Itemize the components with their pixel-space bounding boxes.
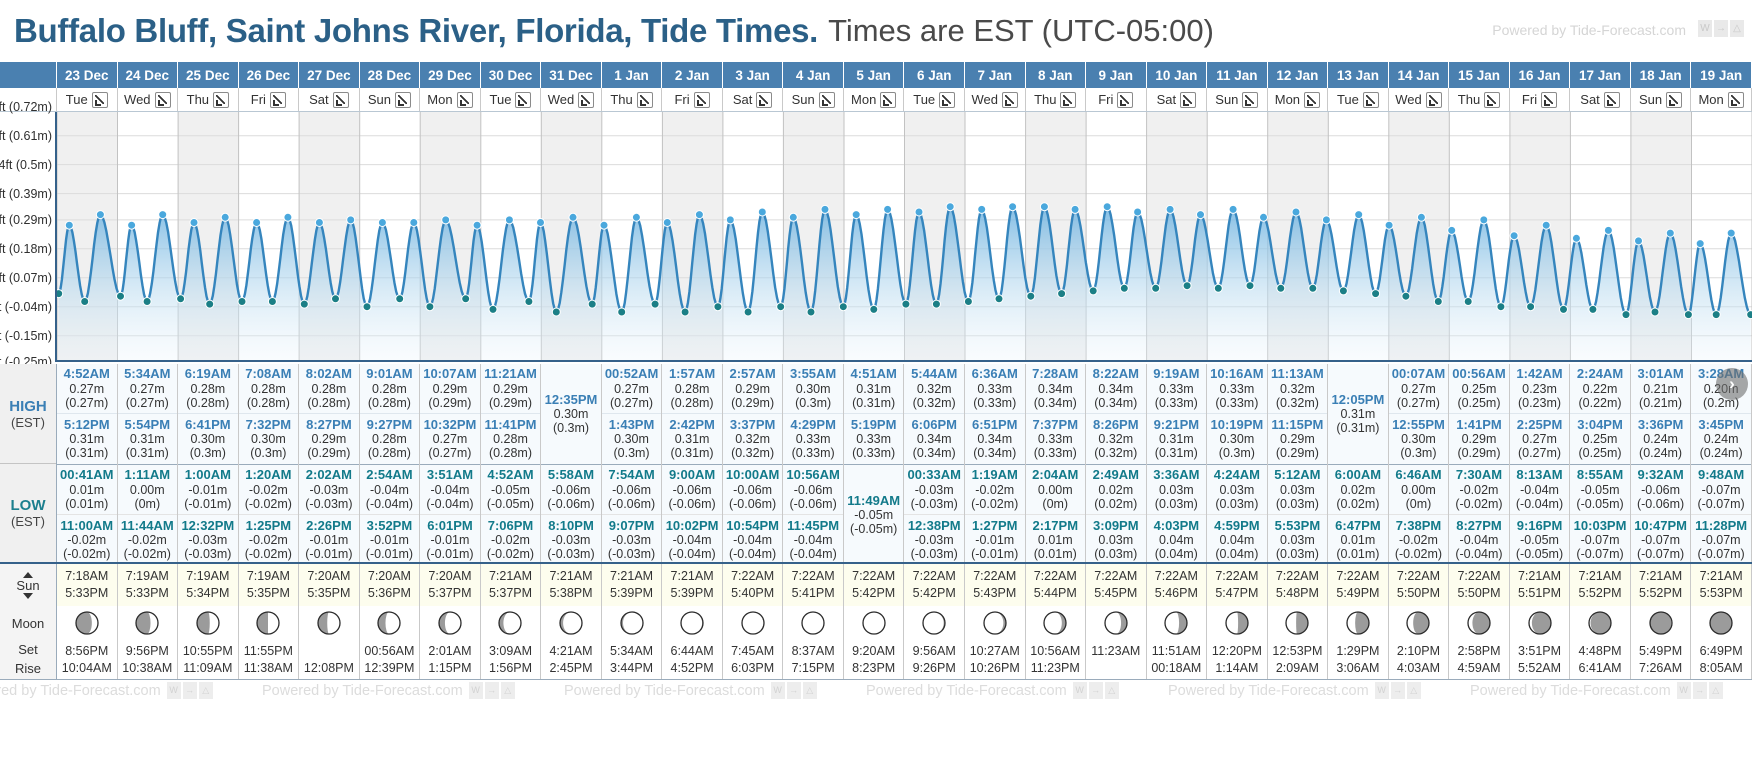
moonset-time: 3:09AM [489, 643, 532, 660]
tide-height-metric: (-0.01m) [971, 547, 1018, 561]
tide-column-23-dec: 4:52AM0.27m(0.27m)5:12PM0.31m(0.31m)00:4… [57, 364, 118, 565]
tide-height: 0.28m [493, 432, 528, 446]
tide-time: 8:27PM [1456, 519, 1502, 534]
expand-icon[interactable] [578, 92, 594, 108]
weekday-header-tue[interactable]: Tue [481, 88, 542, 111]
tide-height: -0.06m [1641, 483, 1680, 497]
tide-height-metric: (0.31m) [126, 446, 169, 460]
low-tide-group: 1:19AM-0.02m(-0.02m)1:27PM-0.01m(-0.01m) [965, 465, 1025, 565]
tide-height: -0.06m [612, 483, 651, 497]
date-header-10-jan[interactable]: 10 Jan [1147, 62, 1208, 88]
tide-height: 0.23m [1522, 382, 1557, 396]
moonrise-label-text: Rise [15, 660, 41, 679]
sunset-time: 5:52PM [1579, 585, 1622, 602]
date-header-19-jan[interactable]: 19 Jan [1691, 62, 1752, 88]
date-header-30-dec[interactable]: 30 Dec [481, 62, 542, 88]
weekday-header-mon[interactable]: Mon [1268, 88, 1329, 111]
high-tide-cell: 5:12PM0.31m(0.31m) [57, 414, 117, 464]
high-tide-cell: 7:08AM0.28m(0.28m) [239, 364, 299, 414]
sun-cell: 7:21AM5:52PM [1570, 564, 1631, 606]
tide-time: 7:08AM [245, 367, 291, 382]
weekday-header-sat[interactable]: Sat [1147, 88, 1208, 111]
tide-column-16-jan: 1:42AM0.23m(0.23m)2:25PM0.27m(0.27m)8:13… [1510, 364, 1571, 565]
expand-icon[interactable] [1304, 92, 1320, 108]
moonset-time: 1:29PM [1336, 643, 1379, 660]
date-header-9-jan[interactable]: 9 Jan [1086, 62, 1147, 88]
sunset-time: 5:51PM [1518, 585, 1561, 602]
high-tide-group: 3:01AM0.21m(0.21m)3:36PM0.24m(0.24m) [1631, 364, 1691, 465]
weekday-header-thu[interactable]: Thu [1026, 88, 1087, 111]
tide-height-metric: (0.3m) [190, 446, 226, 460]
date-header-3-jan[interactable]: 3 Jan [723, 62, 784, 88]
tide-height-metric: (-0.06m) [729, 497, 776, 511]
moonset-time: 4:48PM [1579, 643, 1622, 660]
date-header-14-jan[interactable]: 14 Jan [1389, 62, 1450, 88]
expand-icon[interactable] [333, 92, 349, 108]
low-tide-cell: 11:49AM-0.05m(-0.05m) [844, 465, 904, 565]
weekday-header-mon[interactable]: Mon [844, 88, 905, 111]
moon-set-rise-cell: 11:23AM [1086, 640, 1147, 679]
moonrise-time: 00:18AM [1151, 660, 1201, 677]
sunset-time: 5:53PM [1700, 585, 1743, 602]
footer-watermarks: Powered by Tide-Forecast.comW→△Powered b… [0, 680, 1752, 780]
moonrise-time: 2:45PM [549, 660, 592, 677]
tide-height-metric: (-0.02m) [971, 497, 1018, 511]
moonset-time: 2:10PM [1397, 643, 1440, 660]
tide-time: 11:44AM [121, 519, 174, 534]
tide-time: 1:42AM [1516, 367, 1562, 382]
tide-height-metric: (-0.04m) [1516, 497, 1563, 511]
high-tide-group: 5:34AM0.27m(0.27m)5:54PM0.31m(0.31m) [118, 364, 178, 465]
tide-height-metric: (0.21m) [1639, 396, 1682, 410]
low-tide-cell: 8:27PM-0.04m(-0.04m) [1449, 515, 1509, 565]
tide-height-metric: (-0.02m) [487, 547, 534, 561]
high-tide-group: 1:42AM0.23m(0.23m)2:25PM0.27m(0.27m) [1510, 364, 1570, 465]
low-tide-cell: 10:02PM-0.04m(-0.04m) [662, 515, 722, 565]
watermark-icons: W→△ [167, 682, 213, 699]
high-tide-cell: 10:19PM0.30m(0.3m) [1207, 414, 1267, 464]
sunrise-time: 7:20AM [428, 568, 471, 585]
moon-phase-icon [965, 606, 1026, 640]
low-tide-group: 7:54AM-0.06m(-0.06m)9:07PM-0.03m(-0.03m) [602, 465, 662, 565]
moonset-time: 9:20AM [852, 643, 895, 660]
moonrise-time: 5:52AM [1518, 660, 1561, 677]
weekday-label: Thu [1458, 92, 1480, 107]
date-header-2-jan[interactable]: 2 Jan [662, 62, 723, 88]
high-tide-group: 12:35PM0.30m(0.3m) [541, 364, 601, 465]
tide-height: 0.27m [130, 382, 165, 396]
header-credit-icons: W → △ [1698, 20, 1744, 37]
tide-height-metric: (0m) [134, 497, 160, 511]
tide-column-5-jan: 4:51AM0.31m(0.31m)5:19PM0.33m(0.33m)11:4… [844, 364, 905, 565]
tide-height: 0.21m [1643, 382, 1678, 396]
tide-height: 0.27m [433, 432, 468, 446]
date-header-29-dec[interactable]: 29 Dec [420, 62, 481, 88]
date-header-17-jan[interactable]: 17 Jan [1570, 62, 1631, 88]
weekday-header-fri[interactable]: Fri [1510, 88, 1571, 111]
expand-icon[interactable] [457, 92, 473, 108]
tide-height-metric: (0.27m) [428, 446, 471, 460]
tide-height-metric: (0.04m) [1155, 547, 1198, 561]
high-tide-cell: 8:02AM0.28m(0.28m) [299, 364, 359, 414]
moon-set-rise-cell: 3:09AM1:56PM [481, 640, 542, 679]
sunset-time: 5:33PM [126, 585, 169, 602]
tide-height-metric: (0.3m) [1219, 446, 1255, 460]
tide-time: 00:56AM [1452, 367, 1505, 382]
low-tide-group: 1:00AM-0.01m(-0.01m)12:32PM-0.03m(-0.03m… [178, 465, 238, 565]
expand-icon[interactable] [1060, 92, 1076, 108]
low-tide-group: 10:00AM-0.06m(-0.06m)10:54PM-0.04m(-0.04… [723, 465, 783, 565]
expand-icon[interactable] [1541, 92, 1557, 108]
tide-time: 10:54PM [726, 519, 779, 534]
expand-icon[interactable] [880, 92, 896, 108]
date-header-31-dec[interactable]: 31 Dec [541, 62, 602, 88]
low-tide-cell: 1:25PM-0.02m(-0.02m) [239, 515, 299, 565]
moonrise-time: 3:06AM [1336, 660, 1379, 677]
weekday-label: Sun [1215, 92, 1238, 107]
moon-set-rise-cell: 10:56AM11:23PM [1026, 640, 1087, 679]
expand-icon[interactable] [515, 92, 531, 108]
tide-height-metric: (0.32m) [731, 446, 774, 460]
date-header-23-dec[interactable]: 23 Dec [57, 62, 118, 88]
tide-height-metric: (0.34m) [973, 446, 1016, 460]
high-tide-group: 7:28AM0.34m(0.34m)7:37PM0.33m(0.33m) [1026, 364, 1086, 465]
expand-icon[interactable] [637, 92, 653, 108]
high-tide-cell: 2:24AM0.22m(0.22m) [1570, 364, 1630, 414]
tide-height: 0.34m [977, 432, 1012, 446]
high-tide-cell: 8:26PM0.32m(0.32m) [1086, 414, 1146, 464]
tide-height-metric: (0.34m) [1034, 396, 1077, 410]
moonset-time [327, 643, 330, 660]
wave-icon: △ [199, 682, 213, 699]
high-tide-cell: 2:25PM0.27m(0.27m) [1510, 414, 1570, 464]
weekday-header-sat[interactable]: Sat [1570, 88, 1631, 111]
moonset-time: 11:23AM [1091, 643, 1140, 660]
high-label-tz: (EST) [11, 415, 45, 430]
weekday-header-fri[interactable]: Fri [1086, 88, 1147, 111]
tide-time: 12:32PM [181, 519, 234, 534]
expand-icon[interactable] [213, 92, 229, 108]
sun-cell: 7:19AM5:34PM [178, 564, 239, 606]
tide-height-metric: (0.03m) [1276, 497, 1319, 511]
tide-height: -0.06m [673, 483, 712, 497]
sun-row-label: Sun [0, 564, 57, 606]
low-tide-cell: 10:47PM-0.07m(-0.07m) [1631, 515, 1691, 565]
tide-height-metric: (0.25m) [1579, 446, 1622, 460]
chart-plot-area [57, 112, 1752, 362]
date-header-15-jan[interactable]: 15 Jan [1449, 62, 1510, 88]
high-tide-cell: 3:36PM0.24m(0.24m) [1631, 414, 1691, 464]
tide-height-metric: (-0.01m) [184, 497, 231, 511]
tide-height: -0.01m [370, 533, 409, 547]
moon-set-rise-cell: 6:44AM4:52PM [662, 640, 723, 679]
expand-icon[interactable] [819, 92, 835, 108]
expand-icon[interactable] [756, 92, 772, 108]
weekday-label: Thu [187, 92, 209, 107]
moonset-time: 3:51PM [1518, 643, 1561, 660]
header-credit: Powered by Tide-Forecast.com [1492, 22, 1686, 38]
expand-icon[interactable] [1117, 92, 1133, 108]
low-tide-group: 2:04AM0.00m(0m)2:17PM0.01m(0.01m) [1026, 465, 1086, 565]
sunrise-time: 7:22AM [1094, 568, 1137, 585]
tide-time: 2:57AM [729, 367, 775, 382]
moon-phase-icon [783, 606, 844, 640]
expand-icon[interactable] [270, 92, 286, 108]
tide-column-11-jan: 10:16AM0.33m(0.33m)10:19PM0.30m(0.3m)4:2… [1207, 364, 1268, 565]
date-header-5-jan[interactable]: 5 Jan [844, 62, 905, 88]
date-header-16-jan[interactable]: 16 Jan [1510, 62, 1571, 88]
weekday-header-thu[interactable]: Thu [178, 88, 239, 111]
weekday-header-wed[interactable]: Wed [118, 88, 179, 111]
tide-height-metric: (0.03m) [1094, 547, 1137, 561]
date-header-8-jan[interactable]: 8 Jan [1026, 62, 1087, 88]
sunset-time: 5:49PM [1336, 585, 1379, 602]
high-tide-cell: 9:21PM0.31m(0.31m) [1147, 414, 1207, 464]
tide-height: -0.06m [552, 483, 591, 497]
low-tide-cell: 00:41AM0.01m(0.01m) [57, 465, 117, 515]
weekday-header-mon[interactable]: Mon [1691, 88, 1752, 111]
tide-time: 1:57AM [669, 367, 715, 382]
date-header-25-dec[interactable]: 25 Dec [178, 62, 239, 88]
tide-height: 0.29m [1280, 432, 1315, 446]
sunset-time: 5:36PM [368, 585, 411, 602]
high-tide-group: 6:36AM0.33m(0.33m)6:51PM0.34m(0.34m) [965, 364, 1025, 465]
moon-set-rise-cell: 12:08PM [299, 640, 360, 679]
tide-time: 10:03PM [1574, 519, 1627, 534]
weekday-header-fri[interactable]: Fri [662, 88, 723, 111]
tide-time: 6:46AM [1395, 468, 1441, 483]
tide-time: 11:41PM [484, 418, 536, 433]
expand-icon[interactable] [694, 92, 710, 108]
low-tide-group: 3:36AM0.03m(0.03m)4:03PM0.04m(0.04m) [1147, 465, 1207, 565]
expand-icon[interactable] [1242, 92, 1258, 108]
tide-time: 11:21AM [484, 367, 537, 382]
moon-set-rise-cell: 4:48PM6:41AM [1570, 640, 1631, 679]
tide-height-metric: (0.25m) [1457, 396, 1500, 410]
tide-height: 0.34m [917, 432, 952, 446]
weekday-header-wed[interactable]: Wed [1389, 88, 1450, 111]
weekday-header-mon[interactable]: Mon [420, 88, 481, 111]
weekday-header-thu[interactable]: Thu [1449, 88, 1510, 111]
scroll-right-button[interactable]: › [1716, 368, 1748, 400]
moon-phase-icon [1449, 606, 1510, 640]
sun-cell: 7:21AM5:52PM [1631, 564, 1692, 606]
tide-height: 0.31m [1341, 407, 1376, 421]
sunrise-time: 7:19AM [126, 568, 169, 585]
sunrise-time: 7:21AM [1700, 568, 1743, 585]
sunset-time: 5:39PM [610, 585, 653, 602]
sunrise-time: 7:22AM [852, 568, 895, 585]
arrow-icon: → [1089, 682, 1103, 699]
moon-set-rise-cell: 1:29PM3:06AM [1328, 640, 1389, 679]
date-header-7-jan[interactable]: 7 Jan [965, 62, 1026, 88]
weekday-header-tue[interactable]: Tue [904, 88, 965, 111]
weekday-header-tue[interactable]: Tue [57, 88, 118, 111]
tide-height-metric: (0.3m) [1400, 446, 1436, 460]
weekday-header-fri[interactable]: Fri [239, 88, 300, 111]
low-tide-group: 00:41AM0.01m(0.01m)11:00AM-0.02m(-0.02m) [57, 465, 117, 565]
tide-height: 0.29m [735, 382, 770, 396]
tide-time: 1:25PM [246, 519, 292, 534]
moon-phase-icon [239, 606, 300, 640]
date-header-18-jan[interactable]: 18 Jan [1631, 62, 1692, 88]
expand-icon[interactable] [939, 92, 955, 108]
sun-cell: 7:22AM5:42PM [844, 564, 905, 606]
tide-column-29-dec: 10:07AM0.29m(0.29m)10:32PM0.27m(0.27m)3:… [420, 364, 481, 565]
moon-phase-icon [541, 606, 602, 640]
date-header-row: 23 Dec24 Dec25 Dec26 Dec27 Dec28 Dec29 D… [0, 62, 1752, 88]
tide-height: 0.27m [614, 382, 649, 396]
moonrise-time: 8:23PM [852, 660, 895, 677]
tide-time: 5:19PM [851, 418, 897, 433]
tide-time: 3:36AM [1153, 468, 1199, 483]
sun-cell: 7:22AM5:44PM [1026, 564, 1087, 606]
tide-time: 5:53PM [1275, 519, 1321, 534]
low-tide-cell: 00:33AM-0.03m(-0.03m) [904, 465, 964, 515]
moon-set-rise-cell: 8:56PM10:04AM [57, 640, 118, 679]
weekday-header-sat[interactable]: Sat [299, 88, 360, 111]
tide-time: 2:54AM [366, 468, 412, 483]
moon-phase-icon [1691, 606, 1752, 640]
tide-column-2-jan: 1:57AM0.28m(0.28m)2:42PM0.31m(0.31m)9:00… [662, 364, 723, 565]
high-tide-cell: 11:21AM0.29m(0.29m) [481, 364, 541, 414]
date-header-1-jan[interactable]: 1 Jan [602, 62, 663, 88]
weekday-header-sat[interactable]: Sat [723, 88, 784, 111]
date-header-11-jan[interactable]: 11 Jan [1207, 62, 1268, 88]
date-header-28-dec[interactable]: 28 Dec [360, 62, 421, 88]
high-tide-cell: 7:32PM0.30m(0.3m) [239, 414, 299, 464]
expand-icon[interactable] [1426, 92, 1442, 108]
tide-time: 1:43PM [609, 418, 655, 433]
weekday-header-wed[interactable]: Wed [541, 88, 602, 111]
arrow-icon: → [787, 682, 801, 699]
expand-icon[interactable] [92, 92, 108, 108]
high-tide-cell: 10:32PM0.27m(0.27m) [420, 414, 480, 464]
tide-time: 5:44AM [911, 367, 957, 382]
tide-height: 0.30m [251, 432, 286, 446]
expand-icon[interactable] [1728, 92, 1744, 108]
tide-height-metric: (-0.03m) [911, 547, 958, 561]
tide-height: -0.06m [733, 483, 772, 497]
date-header-4-jan[interactable]: 4 Jan [783, 62, 844, 88]
high-tide-cell: 00:56AM0.25m(0.25m) [1449, 364, 1509, 414]
sun-cell: 7:22AM5:42PM [904, 564, 965, 606]
moonset-time: 10:56AM [1030, 643, 1080, 660]
tide-height-metric: (0.29m) [1457, 446, 1500, 460]
tide-time: 9:01AM [366, 367, 412, 382]
date-header-6-jan[interactable]: 6 Jan [904, 62, 965, 88]
weekday-label: Tue [490, 92, 512, 107]
tide-height: -0.05m [1581, 483, 1620, 497]
low-tide-cell: 3:36AM0.03m(0.03m) [1147, 465, 1207, 515]
date-header-27-dec[interactable]: 27 Dec [299, 62, 360, 88]
tide-height-metric: (0.28m) [307, 396, 350, 410]
moonrise-time: 3:44PM [610, 660, 653, 677]
weekday-label: Wed [1395, 92, 1422, 107]
expand-icon[interactable] [1604, 92, 1620, 108]
sunrise-time: 7:21AM [1639, 568, 1682, 585]
expand-icon[interactable] [395, 92, 411, 108]
tide-height-metric: (-0.04m) [426, 497, 473, 511]
low-tide-cell: 2:02AM-0.03m(-0.03m) [299, 465, 359, 515]
expand-icon[interactable] [1484, 92, 1500, 108]
moon-set-rise-cell: 8:37AM7:15PM [783, 640, 844, 679]
tide-time: 4:51AM [851, 367, 897, 382]
tide-height: 0.02m [1098, 483, 1133, 497]
sun-cell: 7:22AM5:41PM [783, 564, 844, 606]
weekday-header-sun[interactable]: Sun [1631, 88, 1692, 111]
tide-column-7-jan: 6:36AM0.33m(0.33m)6:51PM0.34m(0.34m)1:19… [965, 364, 1026, 565]
high-tide-group: 12:05PM0.31m(0.31m) [1328, 364, 1388, 465]
high-tide-group: 1:57AM0.28m(0.28m)2:42PM0.31m(0.31m) [662, 364, 722, 465]
low-tide-group: 11:49AM-0.05m(-0.05m) [844, 465, 904, 565]
high-tide-cell: 1:42AM0.23m(0.23m) [1510, 364, 1570, 414]
low-label-text: LOW [11, 497, 46, 514]
date-header-13-jan[interactable]: 13 Jan [1328, 62, 1389, 88]
moon-phase-icon [1631, 606, 1692, 640]
tide-height-metric: (0.23m) [1518, 396, 1561, 410]
sun-cell: 7:22AM5:45PM [1086, 564, 1147, 606]
high-tide-group: 9:01AM0.28m(0.28m)9:27PM0.28m(0.28m) [360, 364, 420, 465]
tide-time: 8:02AM [306, 367, 352, 382]
expand-icon[interactable] [1002, 92, 1018, 108]
sun-cell: 7:22AM5:48PM [1268, 564, 1329, 606]
tide-height-metric: (0.28m) [489, 446, 532, 460]
sun-cell: 7:22AM5:46PM [1147, 564, 1208, 606]
expand-icon[interactable] [1363, 92, 1379, 108]
tide-height: 0.01m [1038, 533, 1073, 547]
weekday-label: Wed [548, 92, 575, 107]
tide-column-24-dec: 5:34AM0.27m(0.27m)5:54PM0.31m(0.31m)1:11… [118, 364, 179, 565]
tide-height-metric: (0.33m) [852, 446, 895, 460]
tide-height-metric: (-0.02m) [1455, 497, 1502, 511]
low-tide-cell: 6:47PM0.01m(0.01m) [1328, 515, 1388, 565]
moonset-time: 10:27AM [970, 643, 1020, 660]
moonrise-time: 11:23PM [1031, 660, 1080, 677]
moon-set-rise-cell: 12:53PM2:09AM [1268, 640, 1329, 679]
tide-height: -0.04m [673, 533, 712, 547]
date-header-24-dec[interactable]: 24 Dec [118, 62, 179, 88]
tide-times-table: HIGH (EST) LOW (EST) 4:52AM0.27m(0.27m)5… [0, 364, 1752, 565]
expand-icon[interactable] [155, 92, 171, 108]
tide-height: 0.27m [1522, 432, 1557, 446]
weekday-header-sun[interactable]: Sun [360, 88, 421, 111]
tide-height: 0.03m [1098, 533, 1133, 547]
sunrise-time: 7:22AM [1276, 568, 1319, 585]
expand-icon[interactable] [1666, 92, 1682, 108]
moon-set-rise-cell: 2:10PM4:03AM [1389, 640, 1450, 679]
y-axis-tick-0: 2.36ft (0.72m) [0, 100, 52, 114]
high-tide-cell: 6:51PM0.34m(0.34m) [965, 414, 1025, 464]
weekday-label: Fri [674, 92, 689, 107]
moon-set-rise-cell: 11:55PM11:38AM [239, 640, 300, 679]
tide-height-metric: (0.27m) [1518, 446, 1561, 460]
tide-time: 9:07PM [609, 519, 655, 534]
weekday-header-thu[interactable]: Thu [602, 88, 663, 111]
date-header-12-jan[interactable]: 12 Jan [1268, 62, 1329, 88]
expand-icon[interactable] [1180, 92, 1196, 108]
low-tide-cell: 1:11AM0.00m(0m) [118, 465, 178, 515]
moon-phase-icon [904, 606, 965, 640]
date-header-26-dec[interactable]: 26 Dec [239, 62, 300, 88]
weekday-header-sun[interactable]: Sun [783, 88, 844, 111]
high-tide-group: 00:56AM0.25m(0.25m)1:41PM0.29m(0.29m) [1449, 364, 1509, 465]
tide-column-15-jan: 00:56AM0.25m(0.25m)1:41PM0.29m(0.29m)7:3… [1449, 364, 1510, 565]
weekday-header-tue[interactable]: Tue [1328, 88, 1389, 111]
weekday-header-sun[interactable]: Sun [1207, 88, 1268, 111]
weekday-header-wed[interactable]: Wed [965, 88, 1026, 111]
tide-height-metric: (0.32m) [1094, 446, 1137, 460]
